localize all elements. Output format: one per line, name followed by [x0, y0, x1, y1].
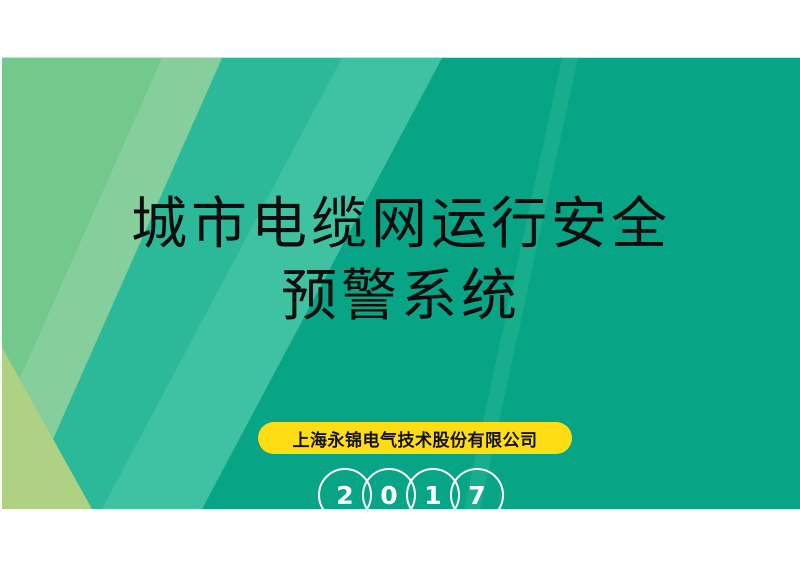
slide-page: 城市电缆网运行安全 预警系统 上海永锦电气技术股份有限公司 2 0 1 7	[0, 0, 800, 566]
title-line-1: 城市电缆网运行安全	[2, 189, 800, 261]
company-name: 上海永锦电气技术股份有限公司	[293, 426, 538, 451]
title-line-2: 预警系统	[2, 261, 800, 333]
page-title: 城市电缆网运行安全 预警系统	[2, 189, 800, 333]
title-slide: 城市电缆网运行安全 预警系统 上海永锦电气技术股份有限公司 2 0 1 7	[2, 57, 800, 509]
band-yellow-green	[2, 347, 92, 509]
band-lower-right-teal	[642, 357, 800, 509]
year-digit-circle: 7	[450, 468, 504, 509]
year-badge-group: 2 0 1 7	[318, 468, 508, 509]
company-banner: 上海永锦电气技术股份有限公司	[258, 422, 572, 454]
